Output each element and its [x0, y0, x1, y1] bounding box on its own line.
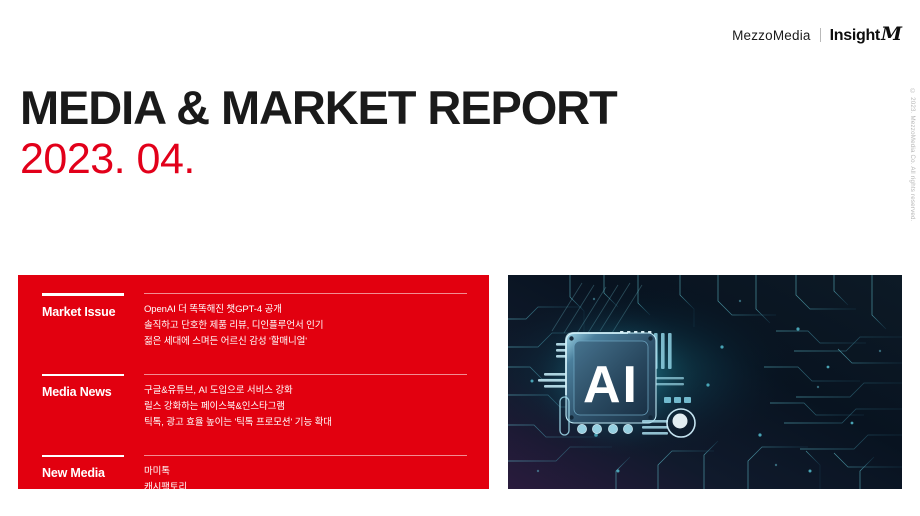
section-market-issue: Market Issue OpenAI 더 똑똑해진 챗GPT-4 공개 솔직하… [42, 293, 467, 350]
section-label-group: Media News [42, 374, 144, 400]
section-title: New Media [42, 466, 144, 480]
section-rule [42, 455, 124, 458]
section-thin-rule [144, 293, 467, 294]
list-item[interactable]: OpenAI 더 똑똑해진 챗GPT-4 공개 [144, 302, 467, 318]
list-item[interactable]: 구글&유튜브, AI 도입으로 서비스 강화 [144, 383, 467, 399]
section-thin-rule [144, 455, 467, 456]
list-item[interactable]: 틱톡, 광고 효율 높이는 '틱톡 프로모션' 기능 확대 [144, 415, 467, 431]
logo-divider [820, 28, 821, 42]
ai-circuit-illustration: AI [508, 275, 902, 489]
ai-cover-image: AI [508, 275, 902, 489]
section-items: OpenAI 더 똑똑해진 챗GPT-4 공개 솔직하고 단호한 제품 리뷰, … [144, 293, 467, 350]
contents-summary-panel: Market Issue OpenAI 더 똑똑해진 챗GPT-4 공개 솔직하… [18, 275, 489, 489]
insight-logo-text: Insight [830, 27, 880, 45]
brand-logo-bar: MezzoMedia InsightM [732, 24, 902, 46]
list-item[interactable]: 솔직하고 단호한 제품 리뷰, 디인플루언서 인기 [144, 318, 467, 334]
ai-chip-label: AI [583, 356, 639, 414]
copyright-notice: © 2023. MezzoMedia Co. All rights reserv… [909, 88, 916, 222]
section-rule [42, 374, 124, 377]
section-new-media: New Media 마미톡 캐시팩토리 [42, 455, 467, 496]
list-item[interactable]: 마미톡 [144, 464, 467, 480]
page-subtitle-date: 2023. 04. [20, 137, 195, 182]
section-items: 마미톡 캐시팩토리 [144, 455, 467, 496]
section-title: Market Issue [42, 305, 144, 319]
section-title: Media News [42, 385, 144, 399]
page-title: MEDIA & MARKET REPORT [20, 83, 617, 132]
insight-logo: InsightM [830, 25, 902, 45]
section-thin-rule [144, 374, 467, 375]
insight-m-mark: M [881, 25, 902, 44]
report-cover-slide: MezzoMedia InsightM MEDIA & MARKET REPOR… [0, 0, 920, 516]
section-media-news: Media News 구글&유튜브, AI 도입으로 서비스 강화 릴스 강화하… [42, 374, 467, 431]
section-rule [42, 293, 124, 296]
list-item[interactable]: 캐시팩토리 [144, 480, 467, 496]
mezzomedia-logo-text: MezzoMedia [732, 28, 811, 43]
section-items: 구글&유튜브, AI 도입으로 서비스 강화 릴스 강화하는 페이스북&인스타그… [144, 374, 467, 431]
section-label-group: Market Issue [42, 293, 144, 319]
list-item[interactable]: 릴스 강화하는 페이스북&인스타그램 [144, 399, 467, 415]
section-label-group: New Media [42, 455, 144, 481]
list-item[interactable]: 젊은 세대에 스며든 어르신 감성 '할매니얼' [144, 334, 467, 350]
